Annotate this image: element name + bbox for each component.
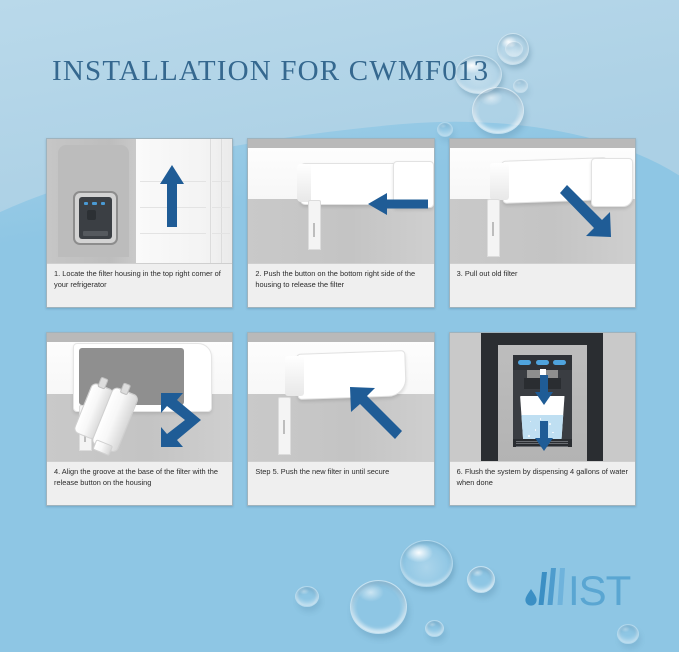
water-droplet-decoration (400, 540, 453, 587)
fridge-interior-lower (248, 394, 433, 461)
step-panel-3[interactable]: 3. Pull out old filter (449, 138, 636, 308)
fridge-door-frame-top (481, 333, 603, 345)
fridge-shelf-seam (140, 233, 207, 234)
fridge-shelf-seam (212, 233, 231, 234)
water-droplet-decoration (513, 79, 528, 93)
step-panel-4[interactable]: 4. Align the groove at the base of the f… (46, 332, 233, 506)
arrow-up-left-icon (348, 385, 404, 441)
fridge-door-edge (210, 139, 211, 263)
dispenser-button (553, 360, 566, 365)
arrow-down-right-icon (558, 183, 614, 239)
step-3-caption: 3. Pull out old filter (450, 263, 635, 307)
step-6-illustration (450, 333, 635, 461)
filter-housing-cover-shadow (490, 163, 509, 200)
filter-stem (278, 397, 291, 455)
water-droplet-decoration (467, 566, 495, 593)
step-5-illustration (248, 333, 433, 461)
fridge-door-frame-right (587, 333, 604, 461)
water-droplet-decoration (425, 620, 444, 637)
dispenser-drip-tray (83, 231, 108, 236)
fridge-door-frame-left (481, 333, 498, 461)
arrow-up-icon (159, 165, 185, 227)
water-dispenser (73, 191, 118, 245)
step-1-illustration (47, 139, 232, 263)
dispenser-button (101, 202, 106, 205)
arrow-double-bent-icon (153, 389, 205, 451)
step-2-illustration (248, 139, 433, 263)
water-droplet-decoration (437, 122, 453, 137)
step-panel-2[interactable]: 2. Push the button on the bottom right s… (247, 138, 434, 308)
water-droplet-decoration (295, 586, 319, 607)
fridge-door-edge (221, 139, 222, 263)
steps-grid: 1. Locate the filter housing in the top … (46, 138, 636, 530)
cabinet-top-bar (248, 139, 433, 148)
cabinet-top-bar (47, 333, 232, 342)
step-2-caption: 2. Push the button on the bottom right s… (248, 263, 433, 307)
step-1-caption: 1. Locate the filter housing in the top … (47, 263, 232, 307)
water-droplet-decoration (472, 87, 524, 134)
step-panel-6[interactable]: 6. Flush the system by dispensing 4 gall… (449, 332, 636, 506)
cabinet-top-bar (248, 333, 433, 342)
step-6-caption: 6. Flush the system by dispensing 4 gall… (450, 461, 635, 505)
step-panel-1[interactable]: 1. Locate the filter housing in the top … (46, 138, 233, 308)
steps-row-1: 1. Locate the filter housing in the top … (46, 138, 636, 308)
logo-wordmark: IST (568, 567, 631, 609)
filter-housing-cover-shadow (297, 164, 312, 202)
logo-m-mark (539, 568, 566, 605)
water-droplet-decoration (617, 624, 639, 644)
filter-stem (487, 199, 500, 257)
page-title: INSTALLATION FOR CWMF013 (52, 55, 489, 88)
dispenser-button (92, 202, 97, 205)
dispenser-recess (79, 197, 112, 239)
dispenser-button (84, 202, 89, 205)
dispenser-button (536, 360, 549, 365)
fridge-shelf-seam (212, 181, 231, 182)
water-droplet-decoration (505, 41, 523, 57)
step-4-illustration (47, 333, 232, 461)
step-3-illustration (450, 139, 635, 263)
dispenser-button (518, 360, 531, 365)
steps-row-2: 4. Align the groove at the base of the f… (46, 332, 636, 506)
filter-stem (308, 200, 321, 250)
cabinet-top-bar (450, 139, 635, 148)
step-4-caption: 4. Align the groove at the base of the f… (47, 461, 232, 505)
water-droplet-icon (525, 589, 536, 606)
arrow-down-icon (535, 421, 553, 451)
brand-logo: IST (524, 563, 634, 609)
step-panel-5[interactable]: Step 5. Push the new filter in until sec… (247, 332, 434, 506)
fridge-shelf-seam (212, 207, 231, 208)
water-droplet-decoration (350, 580, 407, 634)
arrow-left-icon (368, 192, 428, 216)
step-5-caption: Step 5. Push the new filter in until sec… (248, 461, 433, 505)
installation-poster: INSTALLATION FOR CWMF013 (0, 0, 679, 652)
filter-housing-cover-shadow (285, 356, 304, 396)
dispenser-spout (87, 210, 95, 221)
arrow-down-icon (535, 375, 553, 405)
